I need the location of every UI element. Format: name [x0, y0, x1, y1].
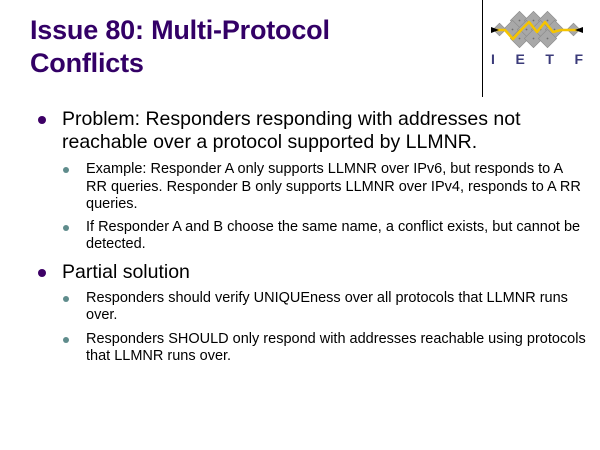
- header-divider: [482, 0, 483, 97]
- bullet-item-verify-uniqueness: Responders should verify UNIQUEness over…: [0, 290, 600, 325]
- ietf-diamonds-icon: [489, 10, 585, 52]
- logo-letter-i: I: [491, 51, 495, 67]
- bullet-item-should-respond: Responders SHOULD only respond with addr…: [0, 331, 600, 366]
- sub-bullet-marker-icon: [63, 225, 69, 231]
- page-title: Issue 80: Multi-Protocol Conflicts: [30, 14, 470, 80]
- bullet-marker-icon: [38, 269, 46, 277]
- sub-bullet-marker-icon: [63, 167, 69, 173]
- sub-bullet-marker-icon: [63, 296, 69, 302]
- ietf-logo: I E T F: [489, 10, 589, 76]
- bullet-text: Responders SHOULD only respond with addr…: [86, 331, 586, 365]
- logo-letter-t: T: [545, 51, 554, 67]
- bullet-item-partial-solution: Partial solution: [0, 261, 600, 284]
- slide-title-line-1: Issue 80: Multi-Protocol: [30, 14, 470, 47]
- bullet-item-conflict: If Responder A and B choose the same nam…: [0, 219, 600, 254]
- bullet-text: If Responder A and B choose the same nam…: [86, 219, 580, 253]
- logo-letter-e: E: [515, 51, 524, 67]
- bullet-text: Example: Responder A only supports LLMNR…: [86, 161, 581, 212]
- bullet-marker-icon: [38, 116, 46, 124]
- slide-canvas: Issue 80: Multi-Protocol Conflicts: [0, 0, 600, 450]
- bullet-text: Responders should verify UNIQUEness over…: [86, 290, 568, 324]
- bullet-text: Partial solution: [62, 261, 190, 283]
- slide-title-line-2: Conflicts: [30, 47, 470, 80]
- bullet-item-problem: Problem: Responders responding with addr…: [0, 108, 600, 154]
- logo-letter-f: F: [574, 51, 583, 67]
- slide-body: Problem: Responders responding with addr…: [0, 108, 600, 367]
- bullet-text: Problem: Responders responding with addr…: [62, 108, 521, 153]
- ietf-logo-letters: I E T F: [491, 51, 583, 67]
- sub-bullet-marker-icon: [63, 337, 69, 343]
- bullet-item-example: Example: Responder A only supports LLMNR…: [0, 161, 600, 214]
